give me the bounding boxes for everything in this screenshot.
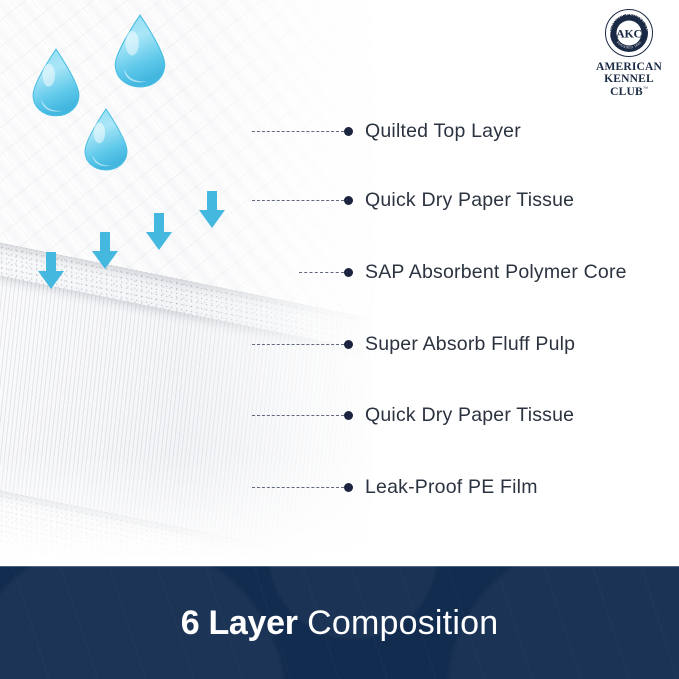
callout-label: Quick Dry Paper Tissue: [365, 404, 574, 427]
akc-seal-icon: AMERICAN KENNEL CLUB FOUNDED 1884 AKC: [604, 8, 654, 58]
svg-text:AKC: AKC: [616, 27, 642, 41]
water-droplet-icon: [30, 48, 82, 117]
bullet-dot-icon: [344, 268, 353, 277]
bullet-dot-icon: [344, 411, 353, 420]
footer-divider: [0, 566, 679, 567]
callout-label: Quick Dry Paper Tissue: [365, 189, 574, 212]
callout-label: Quilted Top Layer: [365, 120, 521, 143]
akc-wordmark-line1: AMERICAN: [588, 61, 670, 73]
callout-leader-line: [252, 344, 344, 345]
callout-leader-line: [299, 272, 344, 273]
bullet-dot-icon: [344, 340, 353, 349]
arrow-down-icon: [144, 213, 174, 251]
callout-label: SAP Absorbent Polymer Core: [365, 261, 627, 284]
callout-label: Super Absorb Fluff Pulp: [365, 333, 575, 356]
akc-wordmark: AMERICAN KENNEL CLUB™: [588, 61, 670, 98]
footer-title-bold: 6 Layer: [181, 604, 298, 642]
callout-3: SAP Absorbent Polymer Core: [0, 262, 679, 282]
callout-4: Super Absorb Fluff Pulp: [0, 334, 679, 354]
callout-leader-line: [252, 200, 344, 201]
callout-6: Leak-Proof PE Film: [0, 477, 679, 497]
product-infographic: AMERICAN KENNEL CLUB FOUNDED 1884 AKC AM…: [0, 0, 679, 679]
trademark-symbol: ™: [643, 87, 648, 92]
callout-leader-line: [252, 487, 344, 488]
akc-logo: AMERICAN KENNEL CLUB FOUNDED 1884 AKC AM…: [588, 8, 670, 90]
bullet-dot-icon: [344, 127, 353, 136]
callout-1: Quilted Top Layer: [0, 121, 679, 141]
water-droplet-icon: [112, 14, 168, 88]
callout-label: Leak-Proof PE Film: [365, 476, 538, 499]
akc-wordmark-line2: KENNEL CLUB™: [588, 73, 670, 98]
footer-title-light: Composition: [307, 604, 498, 642]
callout-2: Quick Dry Paper Tissue: [0, 190, 679, 210]
callout-5: Quick Dry Paper Tissue: [0, 405, 679, 425]
bullet-dot-icon: [344, 483, 353, 492]
callout-leader-line: [252, 415, 344, 416]
footer-banner: 6 Layer Composition: [0, 566, 679, 679]
bullet-dot-icon: [344, 196, 353, 205]
callout-leader-line: [252, 131, 344, 132]
footer-title: 6 Layer Composition: [0, 604, 679, 643]
